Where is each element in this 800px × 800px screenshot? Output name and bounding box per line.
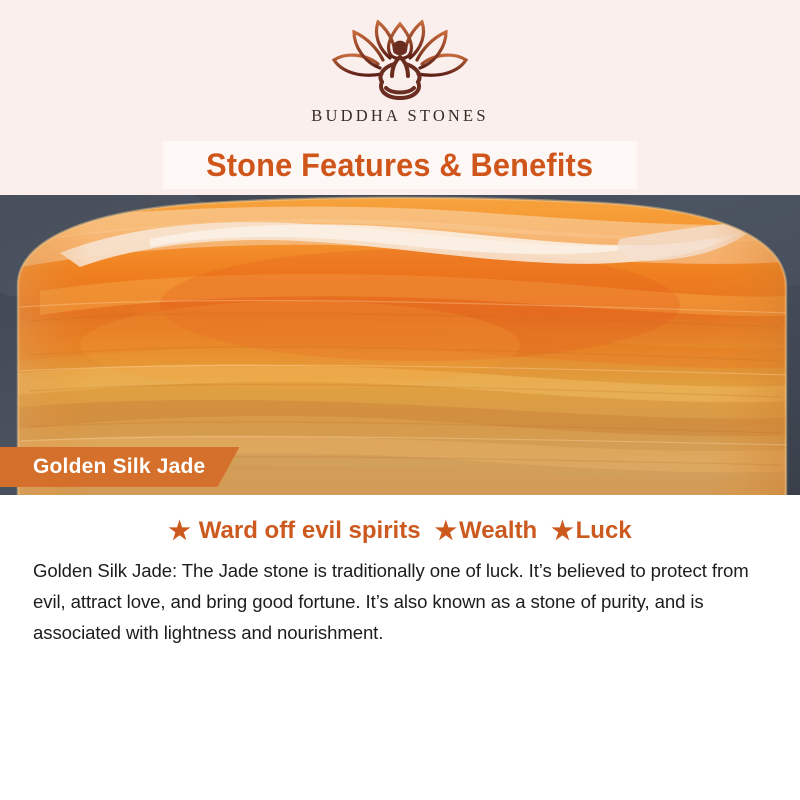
benefits-list: ★ Ward off evil spirits ★ Wealth ★ Luck <box>0 495 800 545</box>
star-icon: ★ <box>168 519 190 544</box>
stone-features-infographic: BUDDHA STONES Stone Features & Benefits <box>0 0 800 800</box>
title-plate: Stone Features & Benefits <box>163 141 637 189</box>
stone-name-label: Golden Silk Jade <box>33 455 205 479</box>
lotus-meditation-icon <box>320 18 480 102</box>
benefit-item-3: ★ Luck <box>551 517 631 545</box>
benefit-item-1: ★ Ward off evil spirits <box>168 517 420 545</box>
content-section: ★ Ward off evil spirits ★ Wealth ★ Luck … <box>0 495 800 800</box>
benefit-item-2: ★ Wealth <box>435 517 538 545</box>
stone-photo: Golden Silk Jade <box>0 195 800 495</box>
brand-logo: BUDDHA STONES <box>0 18 800 126</box>
page-title: Stone Features & Benefits <box>206 147 593 184</box>
benefit-label-1: Ward off evil spirits <box>199 517 421 545</box>
stone-description: Golden Silk Jade: The Jade stone is trad… <box>33 555 767 648</box>
star-icon: ★ <box>551 519 573 544</box>
header-section: BUDDHA STONES Stone Features & Benefits <box>0 0 800 195</box>
brand-name: BUDDHA STONES <box>0 106 800 126</box>
benefit-label-2: Wealth <box>459 517 537 545</box>
stone-caption-banner: Golden Silk Jade <box>0 447 239 487</box>
star-icon: ★ <box>435 519 457 544</box>
benefit-label-3: Luck <box>576 517 632 545</box>
